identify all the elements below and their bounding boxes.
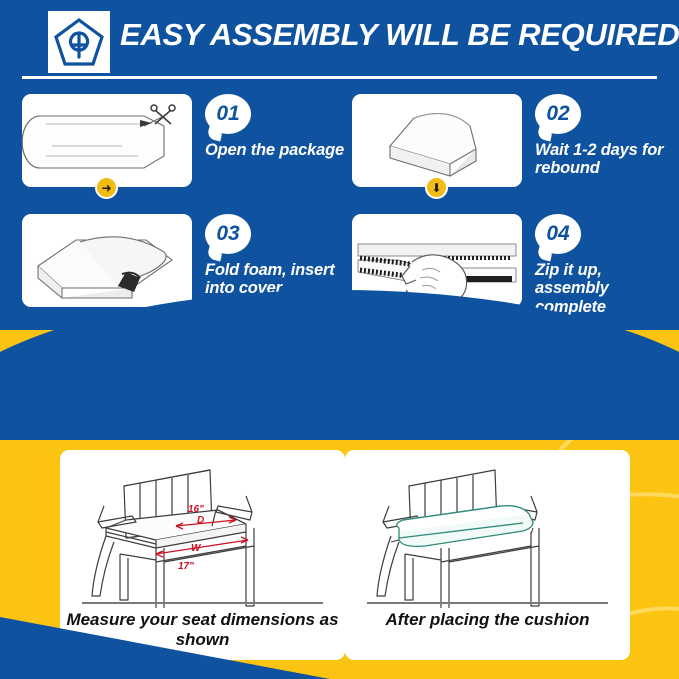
chair-with-dimensions-illustration: 16" D W 17" [60,450,345,610]
step-04-label: Zip it up, assembly complete [535,261,675,316]
dimension-label-W: W [191,543,202,554]
step-02-body: 02 Wait 1-2 days for rebound [535,94,675,178]
assembly-panel: EASY ASSEMBLY WILL BE REQUIRED ➜ 01 Open… [0,0,679,330]
step-04-body: 04 Zip it up, assembly complete [535,214,675,316]
dimension-label-16in: 16" [188,504,204,515]
measure-card-cushion: After placing the cushion [345,450,630,660]
step-card-01: ➜ 01 Open the package [22,94,342,197]
step-number-badge: 04 [535,214,581,254]
house-pentagon-icon [48,11,110,73]
card-divider [82,602,323,604]
step-number-badge: 03 [205,214,251,254]
arrow-down-icon: ⬇ [425,176,448,199]
step-03-body: 03 Fold foam, insert into cover [205,214,345,298]
step-01-body: 01 Open the package [205,94,345,159]
step-03-illustration [22,214,192,307]
step-01-label: Open the package [205,141,345,159]
dimension-label-17in: 17" [178,561,194,572]
dimension-label-D: D [197,515,204,526]
step-01-illustration [22,94,192,187]
page-title: EASY ASSEMBLY WILL BE REQUIRED [120,17,679,53]
step-card-02: ⬇ 02 Wait 1-2 days for rebound [352,94,672,197]
measure-card-caption: After placing the cushion [345,610,630,630]
step-number-badge: 02 [535,94,581,134]
step-02-illustration [352,94,522,187]
card-divider [367,602,608,604]
step-02-label: Wait 1-2 days for rebound [535,141,675,178]
chair-with-cushion-illustration [345,450,630,610]
assembly-header: EASY ASSEMBLY WILL BE REQUIRED [0,0,679,80]
arrow-right-icon: ➜ [95,176,118,199]
header-divider [22,76,657,79]
step-number-badge: 01 [205,94,251,134]
bottom-left-blue-wedge [0,617,330,679]
